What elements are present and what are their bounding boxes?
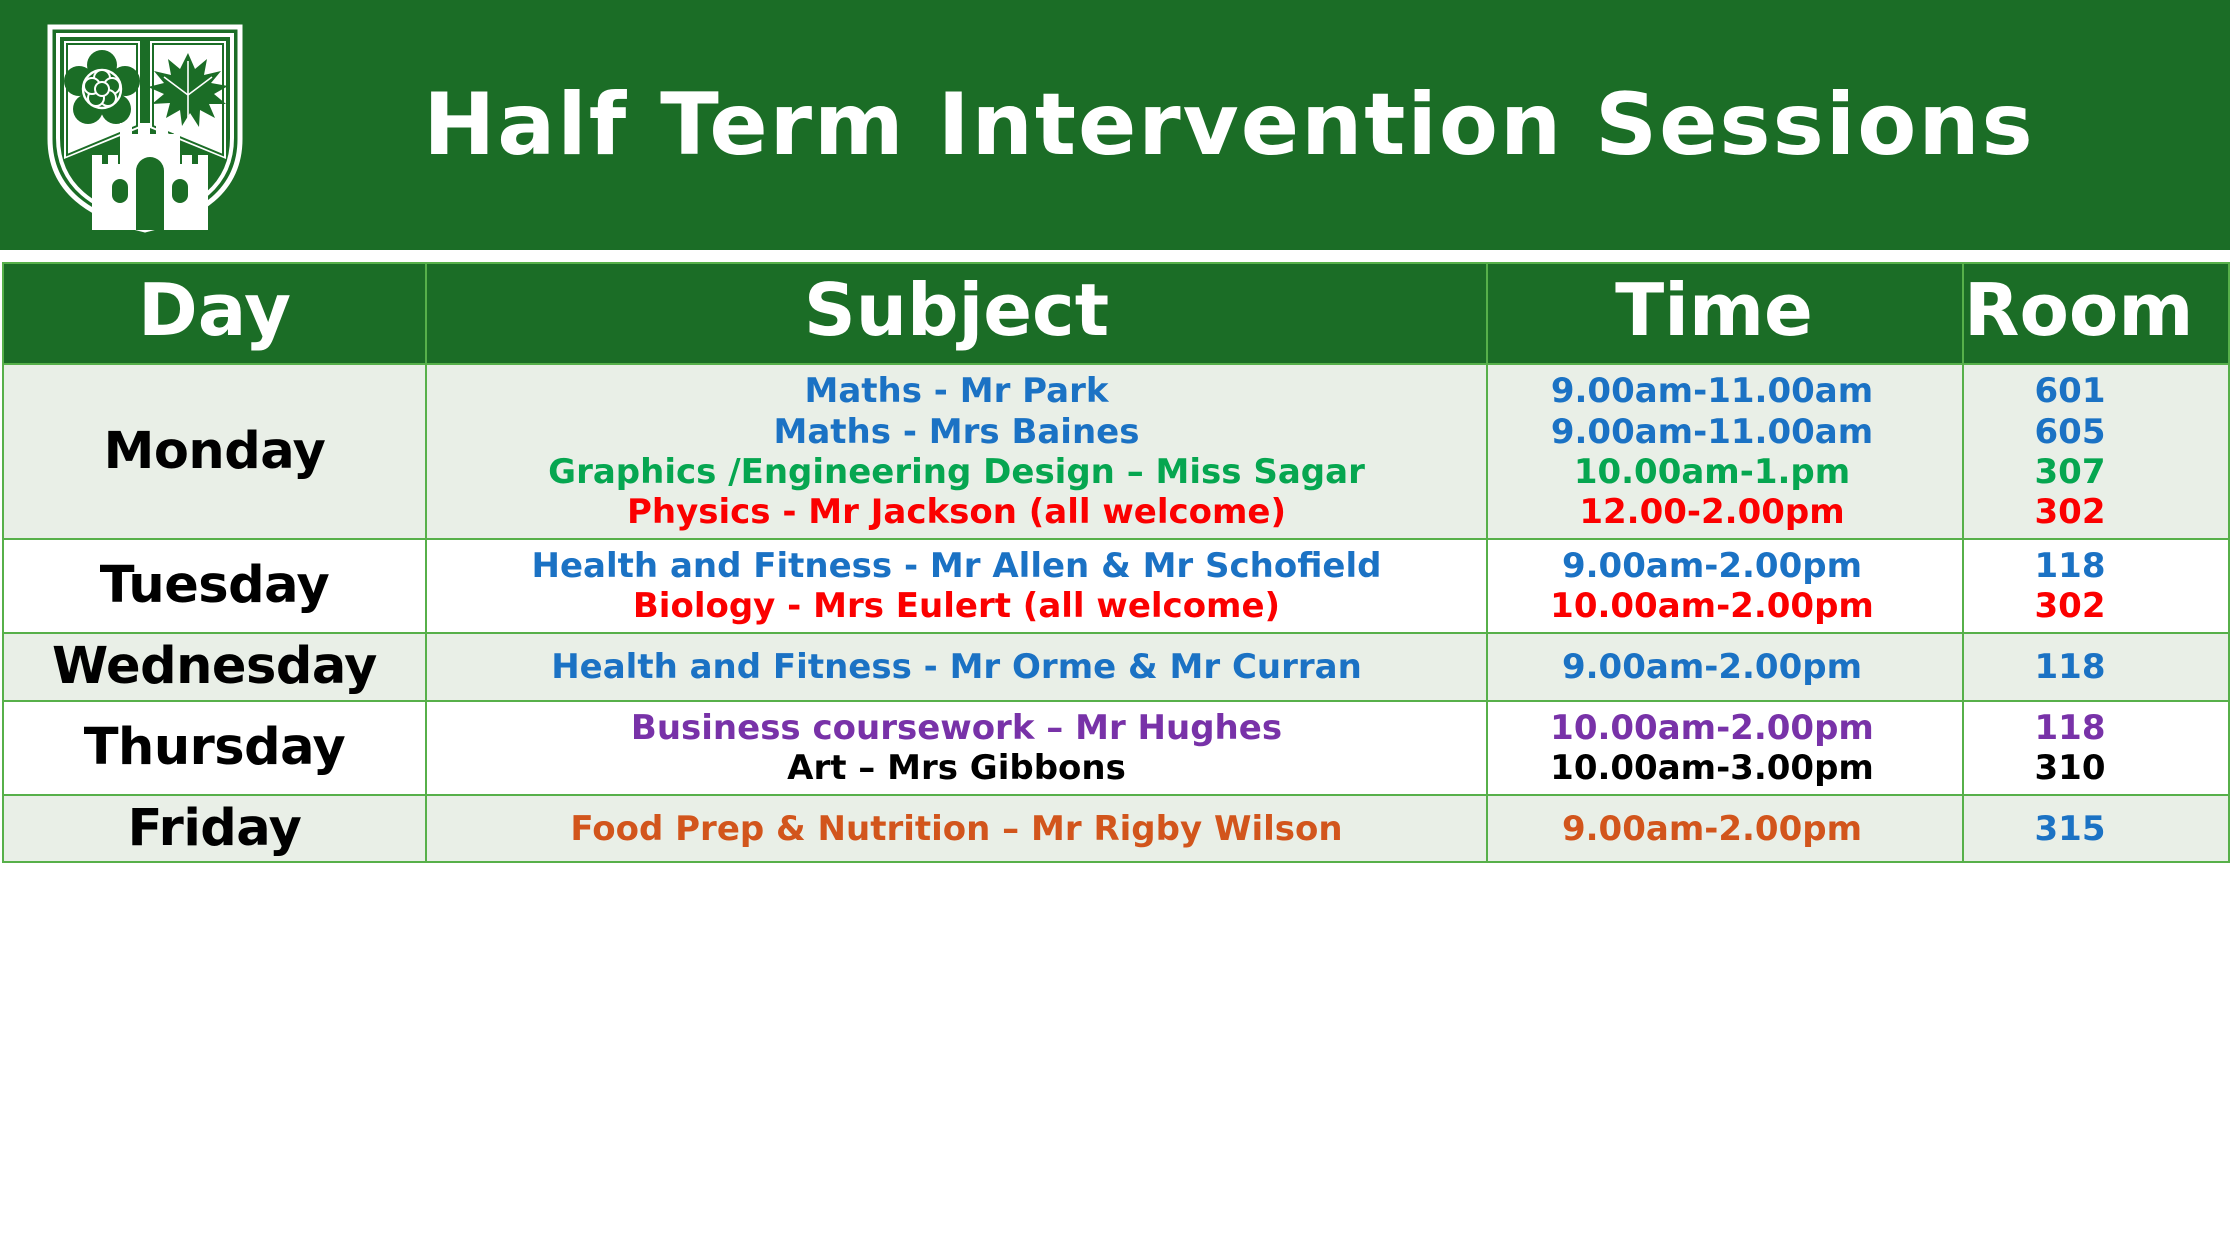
table-header-row: Day Subject Time Room [3,263,2229,364]
subject-cell: Health and Fitness - Mr Allen & Mr Schof… [426,539,1487,633]
day-label: Thursday [3,701,426,795]
time-line: 10.00am-1.pm [1488,452,1962,492]
room-line: 605 [1964,412,2228,452]
room-line: 315 [1964,809,2228,849]
time-line: 10.00am-2.00pm [1488,708,1962,748]
school-crest-icon [40,21,250,236]
column-header-subject: Subject [426,263,1487,364]
room-cell: 118 [1963,633,2229,701]
table-row: Wednesday Health and Fitness - Mr Orme &… [3,633,2229,701]
table-row: Tuesday Health and Fitness - Mr Allen & … [3,539,2229,633]
time-line: 9.00am-11.00am [1488,371,1962,411]
header-banner: Half Term Intervention Sessions [0,0,2230,250]
subject-line: Maths - Mrs Baines [427,412,1486,452]
room-cell: 118 302 [1963,539,2229,633]
subject-line: Graphics /Engineering Design – Miss Saga… [427,452,1486,492]
subject-cell: Food Prep & Nutrition – Mr Rigby Wilson [426,795,1487,863]
room-line: 601 [1964,371,2228,411]
time-line: 9.00am-2.00pm [1488,546,1962,586]
subject-cell: Maths - Mr Park Maths - Mrs Baines Graph… [426,364,1487,538]
room-line: 302 [1964,492,2228,532]
table-row: Friday Food Prep & Nutrition – Mr Rigby … [3,795,2229,863]
subject-line: Biology - Mrs Eulert (all welcome) [427,586,1486,626]
day-label: Wednesday [3,633,426,701]
subject-cell: Health and Fitness - Mr Orme & Mr Curran [426,633,1487,701]
time-line: 10.00am-3.00pm [1488,748,1962,788]
room-line: 118 [1964,708,2228,748]
day-label: Monday [3,364,426,538]
subject-line: Art – Mrs Gibbons [427,748,1486,788]
room-line: 118 [1964,647,2228,687]
time-cell: 9.00am-2.00pm 10.00am-2.00pm [1487,539,1963,633]
time-cell: 9.00am-2.00pm [1487,633,1963,701]
time-line: 9.00am-2.00pm [1488,809,1962,849]
column-header-room: Room [1963,263,2229,364]
room-line: 310 [1964,748,2228,788]
room-cell: 118 310 [1963,701,2229,795]
subject-line: Maths - Mr Park [427,371,1486,411]
time-line: 10.00am-2.00pm [1488,586,1962,626]
room-cell: 315 [1963,795,2229,863]
time-line: 9.00am-2.00pm [1488,647,1962,687]
subject-line: Physics - Mr Jackson (all welcome) [427,492,1486,532]
page-title: Half Term Intervention Sessions [250,82,2230,168]
time-cell: 9.00am-2.00pm [1487,795,1963,863]
room-line: 302 [1964,586,2228,626]
day-label: Tuesday [3,539,426,633]
room-line: 307 [1964,452,2228,492]
table-row: Monday Maths - Mr Park Maths - Mrs Baine… [3,364,2229,538]
poster-root: Half Term Intervention Sessions Day Subj… [0,0,2237,1253]
time-cell: 9.00am-11.00am 9.00am-11.00am 10.00am-1.… [1487,364,1963,538]
column-header-day: Day [3,263,426,364]
subject-line: Food Prep & Nutrition – Mr Rigby Wilson [427,809,1486,849]
column-header-time: Time [1487,263,1963,364]
room-cell: 601 605 307 302 [1963,364,2229,538]
time-line: 12.00-2.00pm [1488,492,1962,532]
room-line: 118 [1964,546,2228,586]
day-label: Friday [3,795,426,863]
subject-line: Health and Fitness - Mr Orme & Mr Curran [427,647,1486,687]
subject-cell: Business coursework – Mr Hughes Art – Mr… [426,701,1487,795]
time-cell: 10.00am-2.00pm 10.00am-3.00pm [1487,701,1963,795]
schedule-table: Day Subject Time Room Monday Maths - Mr … [2,262,2230,863]
subject-line: Health and Fitness - Mr Allen & Mr Schof… [427,546,1486,586]
time-line: 9.00am-11.00am [1488,412,1962,452]
table-row: Thursday Business coursework – Mr Hughes… [3,701,2229,795]
subject-line: Business coursework – Mr Hughes [427,708,1486,748]
